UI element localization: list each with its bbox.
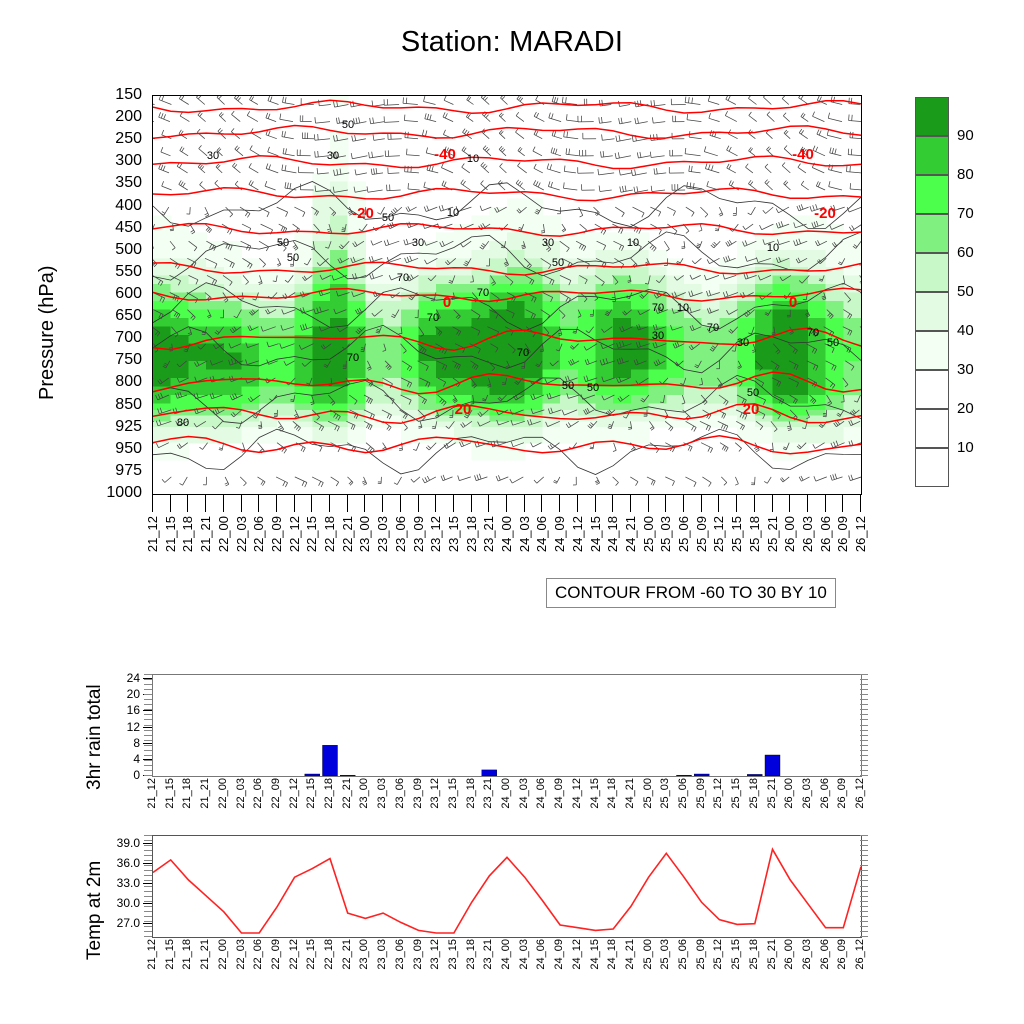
x-tick xyxy=(488,494,489,512)
time-tick-label: 26_09 xyxy=(836,939,848,970)
time-tick-label: 24_00 xyxy=(499,516,514,552)
x-tick xyxy=(400,494,401,512)
x-tick xyxy=(701,494,702,512)
page-title: Station: MARADI xyxy=(0,26,1024,59)
time-tick-label: 24_15 xyxy=(589,939,601,970)
x-tick xyxy=(471,494,472,512)
time-tick-label: 25_03 xyxy=(659,778,671,809)
rain-tick-label: 24 xyxy=(96,672,140,684)
temperature-line-chart[interactable] xyxy=(152,835,862,938)
x-tick xyxy=(736,494,737,512)
temp-minor-tick xyxy=(860,875,868,876)
temp-minor-tick xyxy=(860,896,868,897)
time-tick-label: 25_21 xyxy=(766,939,778,970)
svg-text:70: 70 xyxy=(707,322,719,334)
colorbar-cell xyxy=(915,370,949,409)
time-tick-label: 23_21 xyxy=(482,778,494,809)
temp-tick-label: 36.0 xyxy=(86,857,140,869)
time-tick-label: 22_06 xyxy=(252,778,264,809)
figure-root: Station: MARADI Pressure (hPa) 150200250… xyxy=(0,0,1024,1024)
svg-text:30: 30 xyxy=(652,330,664,342)
x-tick xyxy=(541,494,542,512)
time-tick-label: 22_00 xyxy=(217,939,229,970)
svg-text:30: 30 xyxy=(207,150,219,162)
temp-minor-tick xyxy=(144,926,152,927)
time-tick-label: 22_06 xyxy=(252,939,264,970)
temp-minor-tick xyxy=(860,880,868,881)
x-tick xyxy=(577,494,578,512)
x-tick xyxy=(524,494,525,512)
time-tick-label: 26_06 xyxy=(819,778,831,809)
temp-minor-tick xyxy=(860,921,868,922)
temp-tick-label: 33.0 xyxy=(86,877,140,889)
x-tick xyxy=(187,494,188,512)
x-tick xyxy=(418,494,419,512)
time-tick-label: 25_18 xyxy=(747,516,762,552)
time-tick-label: 26_06 xyxy=(819,939,831,970)
pressure-tick-label: 400 xyxy=(60,198,142,214)
svg-text:50: 50 xyxy=(747,387,759,399)
rain-minor-tick xyxy=(144,765,152,766)
time-tick-label: 22_15 xyxy=(304,516,319,552)
svg-text:20: 20 xyxy=(743,401,760,418)
time-tick-label: 25_06 xyxy=(676,516,691,552)
temp-minor-tick xyxy=(144,891,152,892)
pressure-tick-label: 450 xyxy=(60,220,142,236)
x-tick xyxy=(241,494,242,512)
rain-minor-tick xyxy=(144,714,152,715)
x-tick xyxy=(152,494,153,512)
time-tick-label: 23_00 xyxy=(358,778,370,809)
temp-axis-label: Temp at 2m xyxy=(84,861,106,960)
rain-minor-tick xyxy=(144,704,152,705)
time-tick-label: 25_00 xyxy=(642,778,654,809)
svg-text:-20: -20 xyxy=(352,205,374,222)
time-tick-label: 22_12 xyxy=(288,939,300,970)
temp-minor-tick xyxy=(144,840,152,841)
rain-minor-tick xyxy=(860,684,868,685)
time-tick-label: 24_00 xyxy=(500,939,512,970)
time-tick-label: 26_06 xyxy=(818,516,833,552)
rain-minor-tick xyxy=(144,699,152,700)
x-tick xyxy=(258,494,259,512)
rain-tick-label: 16 xyxy=(96,704,140,716)
rain-minor-tick xyxy=(144,775,152,776)
svg-text:70: 70 xyxy=(477,287,489,299)
temp-minor-tick xyxy=(860,926,868,927)
time-tick-label: 22_21 xyxy=(341,939,353,970)
time-tick-label: 24_03 xyxy=(518,939,530,970)
time-tick-label: 23_18 xyxy=(465,778,477,809)
time-tick-label: 21_15 xyxy=(164,778,176,809)
x-tick xyxy=(825,494,826,512)
colorbar-cell xyxy=(915,409,949,448)
pressure-tick-label: 300 xyxy=(60,153,142,169)
time-tick-label: 21_15 xyxy=(164,939,176,970)
rain-minor-tick xyxy=(144,770,152,771)
rain-bar-chart[interactable] xyxy=(152,674,862,777)
svg-text:30: 30 xyxy=(737,337,749,349)
colorbar-tick-label: 10 xyxy=(957,440,974,455)
svg-text:10: 10 xyxy=(467,153,479,165)
pressure-tick-label: 975 xyxy=(60,463,142,479)
colorbar-tick-label: 30 xyxy=(957,362,974,377)
time-tick-label: 24_09 xyxy=(553,939,565,970)
temp-canvas xyxy=(153,836,861,937)
time-tick-label: 25_18 xyxy=(748,939,760,970)
svg-text:30: 30 xyxy=(542,237,554,249)
rain-minor-tick xyxy=(144,684,152,685)
time-tick-label: 22_00 xyxy=(216,516,231,552)
rain-minor-tick xyxy=(860,740,868,741)
time-tick-label: 23_09 xyxy=(412,778,424,809)
temp-tick-label: 39.0 xyxy=(86,837,140,849)
time-tick-label: 22_18 xyxy=(323,939,335,970)
temp-minor-tick xyxy=(144,901,152,902)
colorbar-cell xyxy=(915,331,949,370)
svg-text:-20: -20 xyxy=(814,205,836,222)
time-tick-label: 25_15 xyxy=(730,778,742,809)
rain-minor-tick xyxy=(144,745,152,746)
svg-text:10: 10 xyxy=(677,302,689,314)
pressure-tick-label: 600 xyxy=(60,286,142,302)
x-tick xyxy=(860,494,861,512)
time-tick-label: 24_09 xyxy=(552,516,567,552)
rain-minor-tick xyxy=(860,730,868,731)
contour-caption: CONTOUR FROM -60 TO 30 BY 10 xyxy=(546,578,836,608)
time-tick-label: 26_03 xyxy=(801,778,813,809)
svg-text:10: 10 xyxy=(627,237,639,249)
rain-minor-tick xyxy=(860,745,868,746)
pressure-tick-label: 350 xyxy=(60,175,142,191)
temp-minor-tick xyxy=(860,835,868,836)
time-tick-label: 24_21 xyxy=(624,778,636,809)
svg-text:50: 50 xyxy=(552,257,564,269)
x-tick xyxy=(435,494,436,512)
time-tick-label: 24_15 xyxy=(589,778,601,809)
temp-y-tick xyxy=(143,923,152,924)
temp-minor-tick xyxy=(860,845,868,846)
temp-minor-tick xyxy=(860,901,868,902)
time-tick-label: 23_18 xyxy=(465,939,477,970)
colorbar-cell xyxy=(915,175,949,214)
temp-minor-tick xyxy=(144,906,152,907)
pressure-tick-label: 950 xyxy=(60,441,142,457)
temp-minor-tick xyxy=(144,850,152,851)
rain-minor-tick xyxy=(860,719,868,720)
svg-text:50: 50 xyxy=(382,212,394,224)
time-tick-label: 26_12 xyxy=(853,516,868,552)
humidity-colorbar[interactable]: 908070605040302010 xyxy=(915,97,949,487)
time-tick-label: 24_06 xyxy=(534,516,549,552)
temp-minor-tick xyxy=(144,911,152,912)
x-tick xyxy=(683,494,684,512)
temp-minor-tick xyxy=(144,875,152,876)
time-tick-label: 23_09 xyxy=(412,939,424,970)
x-tick xyxy=(648,494,649,512)
pressure-tick-label: 550 xyxy=(60,264,142,280)
time-tick-label: 25_21 xyxy=(765,516,780,552)
temp-minor-tick xyxy=(144,916,152,917)
time-tick-label: 26_03 xyxy=(801,939,813,970)
temp-minor-tick xyxy=(144,896,152,897)
time-tick-label: 25_00 xyxy=(642,939,654,970)
colorbar-tick-label: 80 xyxy=(957,167,974,182)
svg-text:50: 50 xyxy=(562,380,574,392)
temp-minor-tick xyxy=(144,865,152,866)
time-tick-label: 21_12 xyxy=(146,939,158,970)
svg-text:10: 10 xyxy=(447,207,459,219)
time-tick-label: 25_21 xyxy=(766,778,778,809)
svg-text:-40: -40 xyxy=(792,146,814,163)
time-tick-label: 22_03 xyxy=(234,516,249,552)
x-tick xyxy=(294,494,295,512)
x-tick xyxy=(311,494,312,512)
temp-tick-label: 30.0 xyxy=(86,897,140,909)
time-tick-label: 25_15 xyxy=(729,516,744,552)
time-tick-label: 22_15 xyxy=(305,778,317,809)
time-tick-label: 23_00 xyxy=(357,516,372,552)
time-tick-label: 21_21 xyxy=(198,516,213,552)
temp-minor-tick xyxy=(860,870,868,871)
rain-minor-tick xyxy=(144,694,152,695)
temp-minor-tick xyxy=(144,845,152,846)
time-tick-label: 22_03 xyxy=(235,939,247,970)
rain-minor-tick xyxy=(144,719,152,720)
time-tick-label: 22_03 xyxy=(235,778,247,809)
time-tick-label: 23_12 xyxy=(428,516,443,552)
temp-y-tick xyxy=(143,903,152,904)
x-tick xyxy=(382,494,383,512)
temp-minor-tick xyxy=(144,835,152,836)
temp-minor-tick xyxy=(860,931,868,932)
time-tick-label: 26_00 xyxy=(783,939,795,970)
time-tick-label: 23_15 xyxy=(447,778,459,809)
temp-minor-tick xyxy=(860,855,868,856)
time-tick-label: 25_12 xyxy=(712,778,724,809)
time-tick-label: 21_21 xyxy=(199,778,211,809)
rain-y-tick xyxy=(143,710,152,711)
svg-text:-40: -40 xyxy=(434,146,456,163)
colorbar-tick-label: 20 xyxy=(957,401,974,416)
temp-minor-tick xyxy=(860,840,868,841)
time-tick-label: 21_15 xyxy=(163,516,178,552)
time-tick-label: 24_12 xyxy=(571,778,583,809)
rain-minor-tick xyxy=(860,704,868,705)
pressure-tick-label: 500 xyxy=(60,242,142,258)
temp-minor-tick xyxy=(144,921,152,922)
time-tick-label: 23_21 xyxy=(482,939,494,970)
rain-minor-tick xyxy=(860,725,868,726)
temp-minor-tick xyxy=(860,850,868,851)
x-tick xyxy=(276,494,277,512)
cross-section-canvas: -40-40-20-200020203030505050101010101030… xyxy=(153,96,861,494)
rain-minor-tick xyxy=(860,714,868,715)
rain-minor-tick xyxy=(144,755,152,756)
temp-minor-tick xyxy=(144,931,152,932)
time-tick-label: 23_06 xyxy=(394,778,406,809)
pressure-tick-label: 925 xyxy=(60,419,142,435)
humidity-cross-section-plot[interactable]: -40-40-20-200020203030505050101010101030… xyxy=(152,95,862,495)
pressure-tick-label: 200 xyxy=(60,109,142,125)
temp-minor-tick xyxy=(860,891,868,892)
time-tick-label: 26_00 xyxy=(782,516,797,552)
time-tick-label: 21_12 xyxy=(146,778,158,809)
svg-text:70: 70 xyxy=(517,347,529,359)
time-tick-label: 24_00 xyxy=(500,778,512,809)
x-tick xyxy=(329,494,330,512)
colorbar-cell xyxy=(915,214,949,253)
temp-minor-tick xyxy=(860,911,868,912)
time-tick-label: 21_18 xyxy=(181,939,193,970)
time-tick-label: 23_18 xyxy=(464,516,479,552)
temp-minor-tick xyxy=(144,886,152,887)
x-tick xyxy=(506,494,507,512)
x-tick xyxy=(789,494,790,512)
svg-text:70: 70 xyxy=(652,302,664,314)
rain-minor-tick xyxy=(144,740,152,741)
rain-y-tick xyxy=(143,743,152,744)
time-tick-label: 24_06 xyxy=(535,939,547,970)
svg-text:70: 70 xyxy=(427,312,439,324)
time-tick-label: 22_21 xyxy=(341,778,353,809)
rain-minor-tick xyxy=(860,750,868,751)
rain-minor-tick xyxy=(860,709,868,710)
svg-text:50: 50 xyxy=(587,382,599,394)
time-tick-label: 26_03 xyxy=(800,516,815,552)
svg-text:30: 30 xyxy=(327,150,339,162)
time-tick-label: 22_06 xyxy=(251,516,266,552)
time-tick-label: 24_09 xyxy=(553,778,565,809)
rain-minor-tick xyxy=(860,679,868,680)
x-tick xyxy=(718,494,719,512)
colorbar-tick-label: 70 xyxy=(957,206,974,221)
time-tick-label: 23_00 xyxy=(358,939,370,970)
time-tick-label: 25_09 xyxy=(695,778,707,809)
svg-text:50: 50 xyxy=(827,337,839,349)
x-tick xyxy=(205,494,206,512)
time-tick-label: 22_09 xyxy=(270,778,282,809)
pressure-tick-label: 850 xyxy=(60,397,142,413)
time-tick-label: 23_15 xyxy=(447,939,459,970)
pressure-tick-label: 750 xyxy=(60,352,142,368)
svg-text:50: 50 xyxy=(277,237,289,249)
x-tick xyxy=(223,494,224,512)
pressure-tick-label: 150 xyxy=(60,87,142,103)
time-tick-label: 22_09 xyxy=(270,939,282,970)
time-tick-label: 21_12 xyxy=(145,516,160,552)
time-tick-label: 24_18 xyxy=(606,939,618,970)
time-tick-label: 25_09 xyxy=(694,516,709,552)
time-tick-label: 22_00 xyxy=(217,778,229,809)
rain-tick-label: 12 xyxy=(96,721,140,733)
rain-minor-tick xyxy=(144,679,152,680)
rain-minor-tick xyxy=(144,689,152,690)
temp-minor-tick xyxy=(144,860,152,861)
temp-minor-tick xyxy=(860,865,868,866)
time-tick-label: 24_12 xyxy=(571,939,583,970)
time-tick-label: 22_18 xyxy=(323,778,335,809)
svg-text:30: 30 xyxy=(412,237,424,249)
svg-text:80: 80 xyxy=(177,417,189,429)
rain-minor-tick xyxy=(860,694,868,695)
svg-text:50: 50 xyxy=(342,119,354,131)
rain-minor-tick xyxy=(860,755,868,756)
time-tick-label: 23_15 xyxy=(446,516,461,552)
x-tick xyxy=(347,494,348,512)
temp-minor-tick xyxy=(144,870,152,871)
colorbar-cell xyxy=(915,292,949,331)
temp-y-tick xyxy=(143,863,152,864)
time-tick-label: 21_18 xyxy=(180,516,195,552)
rain-minor-tick xyxy=(860,770,868,771)
rain-minor-tick xyxy=(144,674,152,675)
temp-y-tick xyxy=(143,883,152,884)
pressure-axis-label: Pressure (hPa) xyxy=(36,266,59,401)
x-tick xyxy=(630,494,631,512)
rain-y-tick xyxy=(143,727,152,728)
time-tick-label: 22_12 xyxy=(287,516,302,552)
colorbar-tick-label: 40 xyxy=(957,323,974,338)
time-tick-label: 25_03 xyxy=(658,516,673,552)
time-tick-label: 26_09 xyxy=(835,516,850,552)
x-tick xyxy=(842,494,843,512)
rain-minor-tick xyxy=(860,735,868,736)
x-tick xyxy=(559,494,560,512)
x-tick xyxy=(772,494,773,512)
pressure-tick-label: 250 xyxy=(60,131,142,147)
temp-minor-tick xyxy=(144,880,152,881)
time-tick-label: 25_12 xyxy=(712,939,724,970)
rain-minor-tick xyxy=(144,709,152,710)
x-tick xyxy=(364,494,365,512)
time-tick-label: 24_06 xyxy=(535,778,547,809)
temp-tick-label: 27.0 xyxy=(86,917,140,929)
time-tick-label: 23_06 xyxy=(393,516,408,552)
rain-minor-tick xyxy=(860,699,868,700)
x-tick xyxy=(612,494,613,512)
svg-text:0: 0 xyxy=(789,294,797,311)
rain-minor-tick xyxy=(144,730,152,731)
time-tick-label: 21_18 xyxy=(181,778,193,809)
rain-tick-label: 0 xyxy=(96,769,140,781)
temp-y-tick xyxy=(143,843,152,844)
svg-text:0: 0 xyxy=(443,294,451,311)
svg-text:10: 10 xyxy=(767,242,779,254)
time-tick-label: 24_15 xyxy=(588,516,603,552)
time-tick-label: 23_03 xyxy=(375,516,390,552)
rain-minor-tick xyxy=(860,775,868,776)
time-tick-label: 26_12 xyxy=(854,778,866,809)
time-tick-label: 24_03 xyxy=(517,516,532,552)
svg-text:70: 70 xyxy=(807,327,819,339)
time-tick-label: 23_03 xyxy=(376,778,388,809)
pressure-tick-label: 1000 xyxy=(60,485,142,501)
temp-minor-tick xyxy=(860,886,868,887)
temp-minor-tick xyxy=(860,860,868,861)
colorbar-cell xyxy=(915,97,949,136)
time-tick-label: 25_12 xyxy=(711,516,726,552)
rain-tick-label: 4 xyxy=(96,753,140,765)
temp-minor-tick xyxy=(144,855,152,856)
time-tick-label: 24_21 xyxy=(623,516,638,552)
colorbar-cell xyxy=(915,448,949,487)
time-tick-label: 25_15 xyxy=(730,939,742,970)
x-tick xyxy=(754,494,755,512)
time-tick-label: 24_12 xyxy=(570,516,585,552)
time-tick-label: 26_12 xyxy=(854,939,866,970)
time-tick-label: 23_21 xyxy=(481,516,496,552)
